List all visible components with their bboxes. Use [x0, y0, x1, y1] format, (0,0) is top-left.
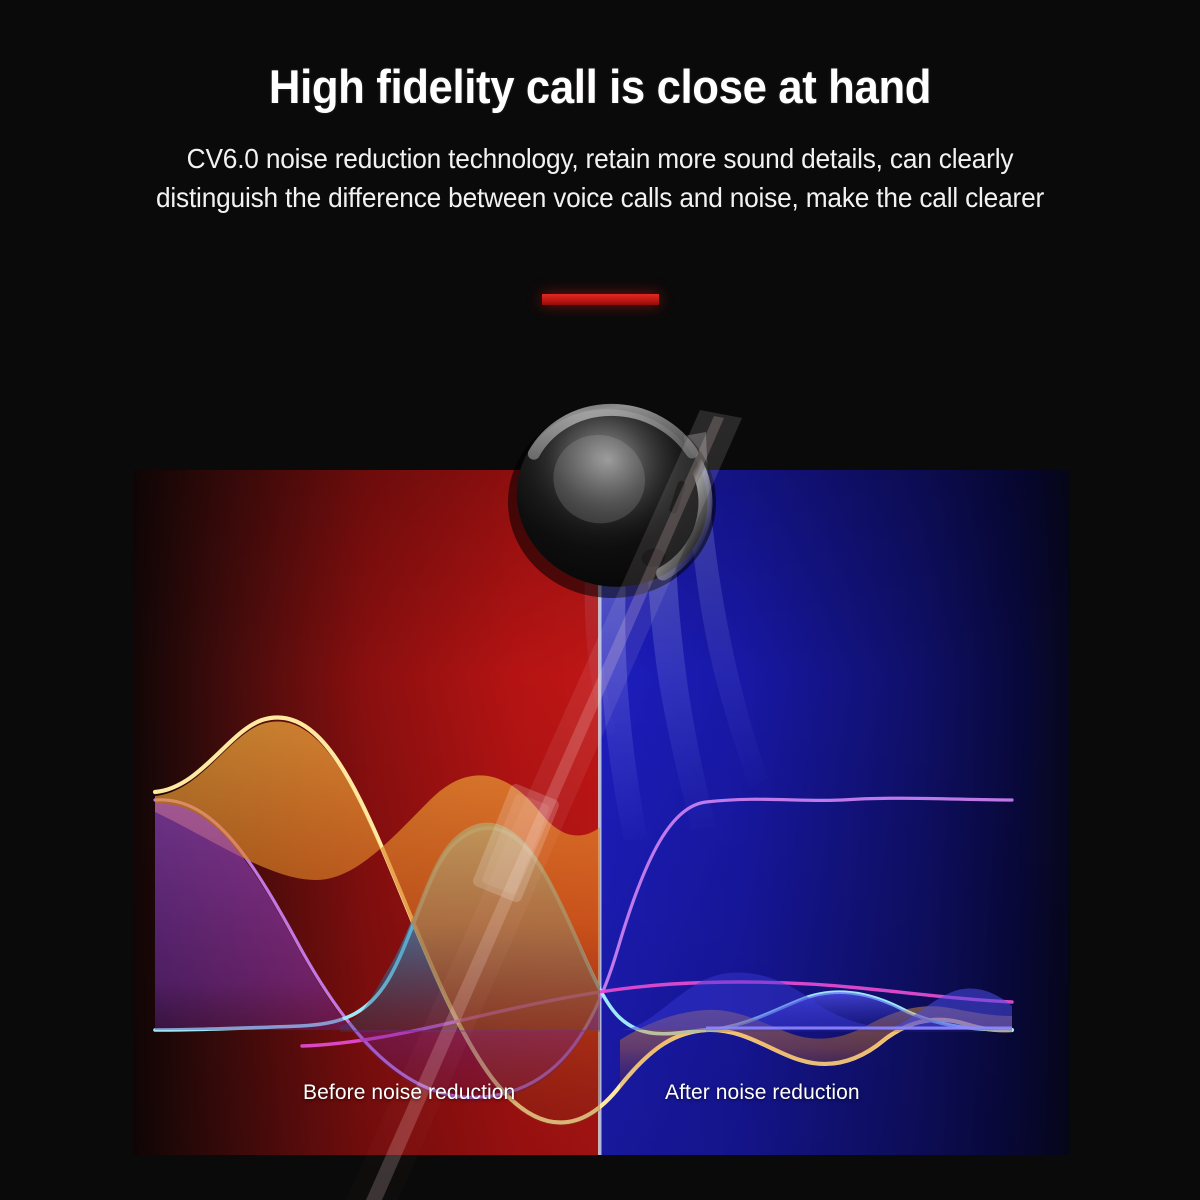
product-illustration: [0, 240, 1200, 1200]
subtitle-line-1: CV6.0 noise reduction technology, retain…: [27, 139, 1173, 178]
subtitle-line-2: distinguish the difference between voice…: [27, 178, 1173, 217]
page-subtitle: CV6.0 noise reduction technology, retain…: [27, 112, 1173, 217]
header-block: High fidelity call is close at hand CV6.…: [0, 0, 1200, 217]
accent-bar: [542, 294, 659, 305]
page-title: High fidelity call is close at hand: [42, 0, 1158, 112]
promo-canvas: High fidelity call is close at hand CV6.…: [0, 0, 1200, 1200]
caption-before-noise-reduction: Before noise reduction: [303, 1081, 515, 1105]
caption-after-noise-reduction: After noise reduction: [665, 1081, 860, 1105]
